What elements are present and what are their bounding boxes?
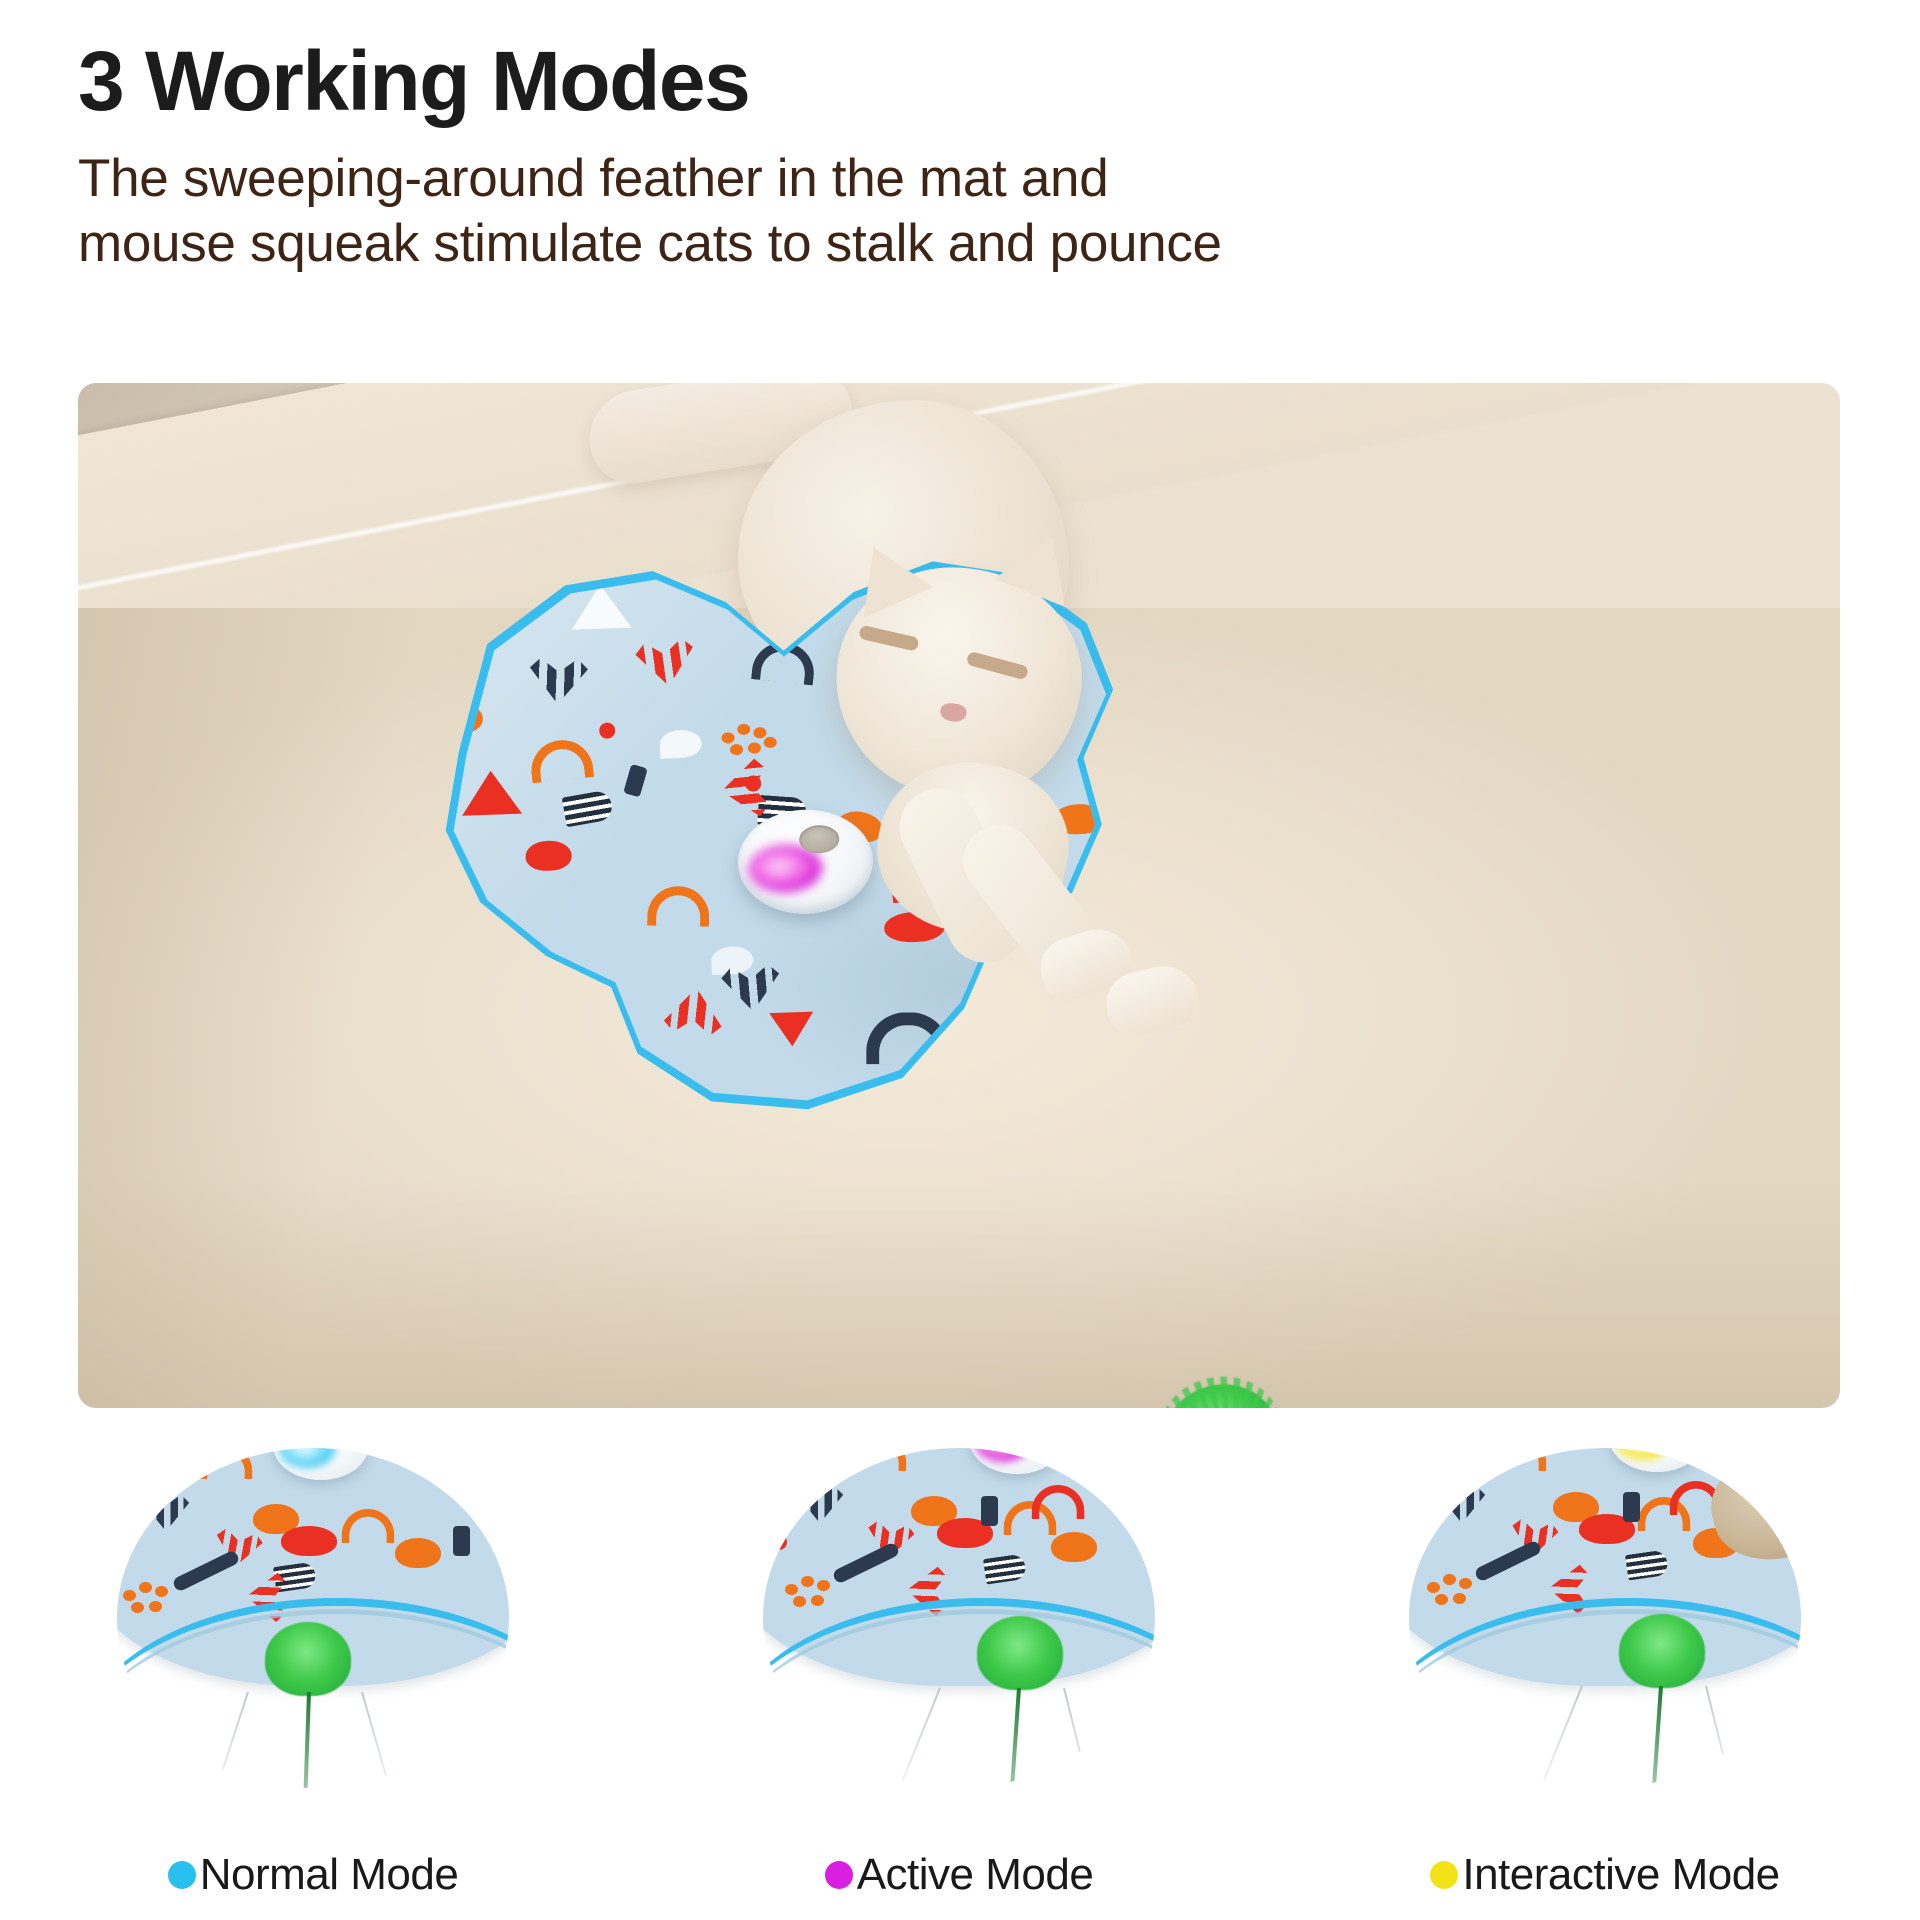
shape-navy-fan [797, 1487, 843, 1524]
thumbnail-circle [1409, 1448, 1801, 1788]
shape-red-triangle [461, 770, 522, 816]
mode-legend: Normal Mode Active Mode Interactive Mode [78, 1845, 1840, 1905]
legend-item-active[interactable]: Active Mode [724, 1845, 1194, 1905]
shape-orange-arch [200, 1448, 253, 1479]
shape-navy-fan [462, 1481, 509, 1529]
shape-red-dot [1413, 1532, 1429, 1548]
shape-red-triangle [769, 1012, 814, 1048]
green-feather-toy [1619, 1614, 1705, 1688]
shape-red-fan [718, 758, 770, 820]
shape-navy-fan [1439, 1487, 1485, 1524]
shape-navy-chip [1623, 1492, 1640, 1522]
product-feature-page: 3 Working Modes The sweeping-around feat… [0, 0, 1920, 1920]
interactive-mode-dot-icon [1430, 1861, 1458, 1889]
led-glow [1615, 1448, 1671, 1460]
shape-red-fan [634, 637, 698, 691]
page-title: 3 Working Modes [78, 38, 1868, 125]
subtitle-line-1: The sweeping-around feather in the mat a… [78, 147, 1868, 212]
active-mode-dot-icon [825, 1861, 853, 1889]
mode-thumbnail-row [78, 1448, 1840, 1848]
shape-orange-seeds [721, 723, 776, 759]
thumbnail-circle [117, 1448, 509, 1788]
cat-play-mat [388, 541, 1207, 1129]
shape-red-arch [1032, 1485, 1085, 1519]
normal-mode-dot-icon [168, 1861, 196, 1889]
green-feather-toy [265, 1622, 351, 1696]
led-dome-module[interactable] [273, 1448, 369, 1480]
green-feather-toy [977, 1616, 1063, 1690]
mat-printed-surface [398, 551, 1198, 1120]
cat-eye-right [966, 651, 1030, 681]
shape-red-blob [525, 840, 572, 872]
subtitle-line-2: mouse squeak stimulate cats to stalk and… [78, 212, 1868, 277]
shape-orange-arch [854, 1448, 907, 1471]
led-dome-module[interactable] [1609, 1448, 1705, 1472]
shape-navy-fan [1118, 1473, 1155, 1521]
shape-navy-hook [1473, 1539, 1542, 1582]
cat-nose [939, 702, 967, 723]
shape-navy-fan [720, 963, 782, 1014]
legend-item-normal[interactable]: Normal Mode [78, 1845, 548, 1905]
shape-striped-blob [983, 1554, 1027, 1585]
shape-orange-seeds [1427, 1574, 1481, 1608]
led-dome-module[interactable] [969, 1448, 1065, 1474]
shape-navy-chip [453, 1526, 470, 1556]
shape-navy-blob [512, 971, 544, 1020]
shape-red-dot [771, 1534, 787, 1550]
legend-item-interactive[interactable]: Interactive Mode [1370, 1845, 1840, 1905]
shape-orange-blob [395, 1538, 441, 1568]
shape-red-dot [117, 1542, 123, 1558]
cat-eye-left [858, 625, 920, 652]
shape-orange-arch [342, 1509, 395, 1543]
shape-orange-seeds [785, 1576, 839, 1610]
shape-red-blob [281, 1526, 337, 1556]
shape-red-fan [663, 985, 725, 1037]
legend-label-active: Active Mode [857, 1850, 1094, 1900]
shape-navy-chip [981, 1496, 998, 1526]
led-glow [975, 1448, 1031, 1462]
shape-orange-arch [1494, 1448, 1547, 1471]
mode-thumbnail-interactive[interactable] [1370, 1448, 1840, 1848]
shape-navy-fan [529, 657, 589, 705]
shape-orange-seeds [123, 1582, 177, 1616]
legend-label-normal: Normal Mode [200, 1850, 459, 1900]
led-glow [279, 1448, 335, 1468]
speaker-grille-icon [799, 825, 840, 854]
header-block: 3 Working Modes The sweeping-around feat… [78, 38, 1868, 277]
mode-thumbnail-normal[interactable] [78, 1448, 548, 1848]
hero-product-photo [78, 383, 1840, 1408]
shape-navy-hook [171, 1549, 240, 1592]
mode-thumbnail-active[interactable] [724, 1448, 1194, 1848]
rug-shadow-bottom [78, 1178, 1840, 1408]
page-subtitle: The sweeping-around feather in the mat a… [78, 147, 1868, 276]
legend-label-interactive: Interactive Mode [1462, 1850, 1779, 1900]
shape-striped-blob [1625, 1550, 1669, 1581]
thumbnail-circle [763, 1448, 1155, 1788]
shape-red-blob [429, 1454, 487, 1484]
shape-navy-fan [143, 1495, 189, 1532]
shape-orange-blob [1051, 1532, 1097, 1562]
